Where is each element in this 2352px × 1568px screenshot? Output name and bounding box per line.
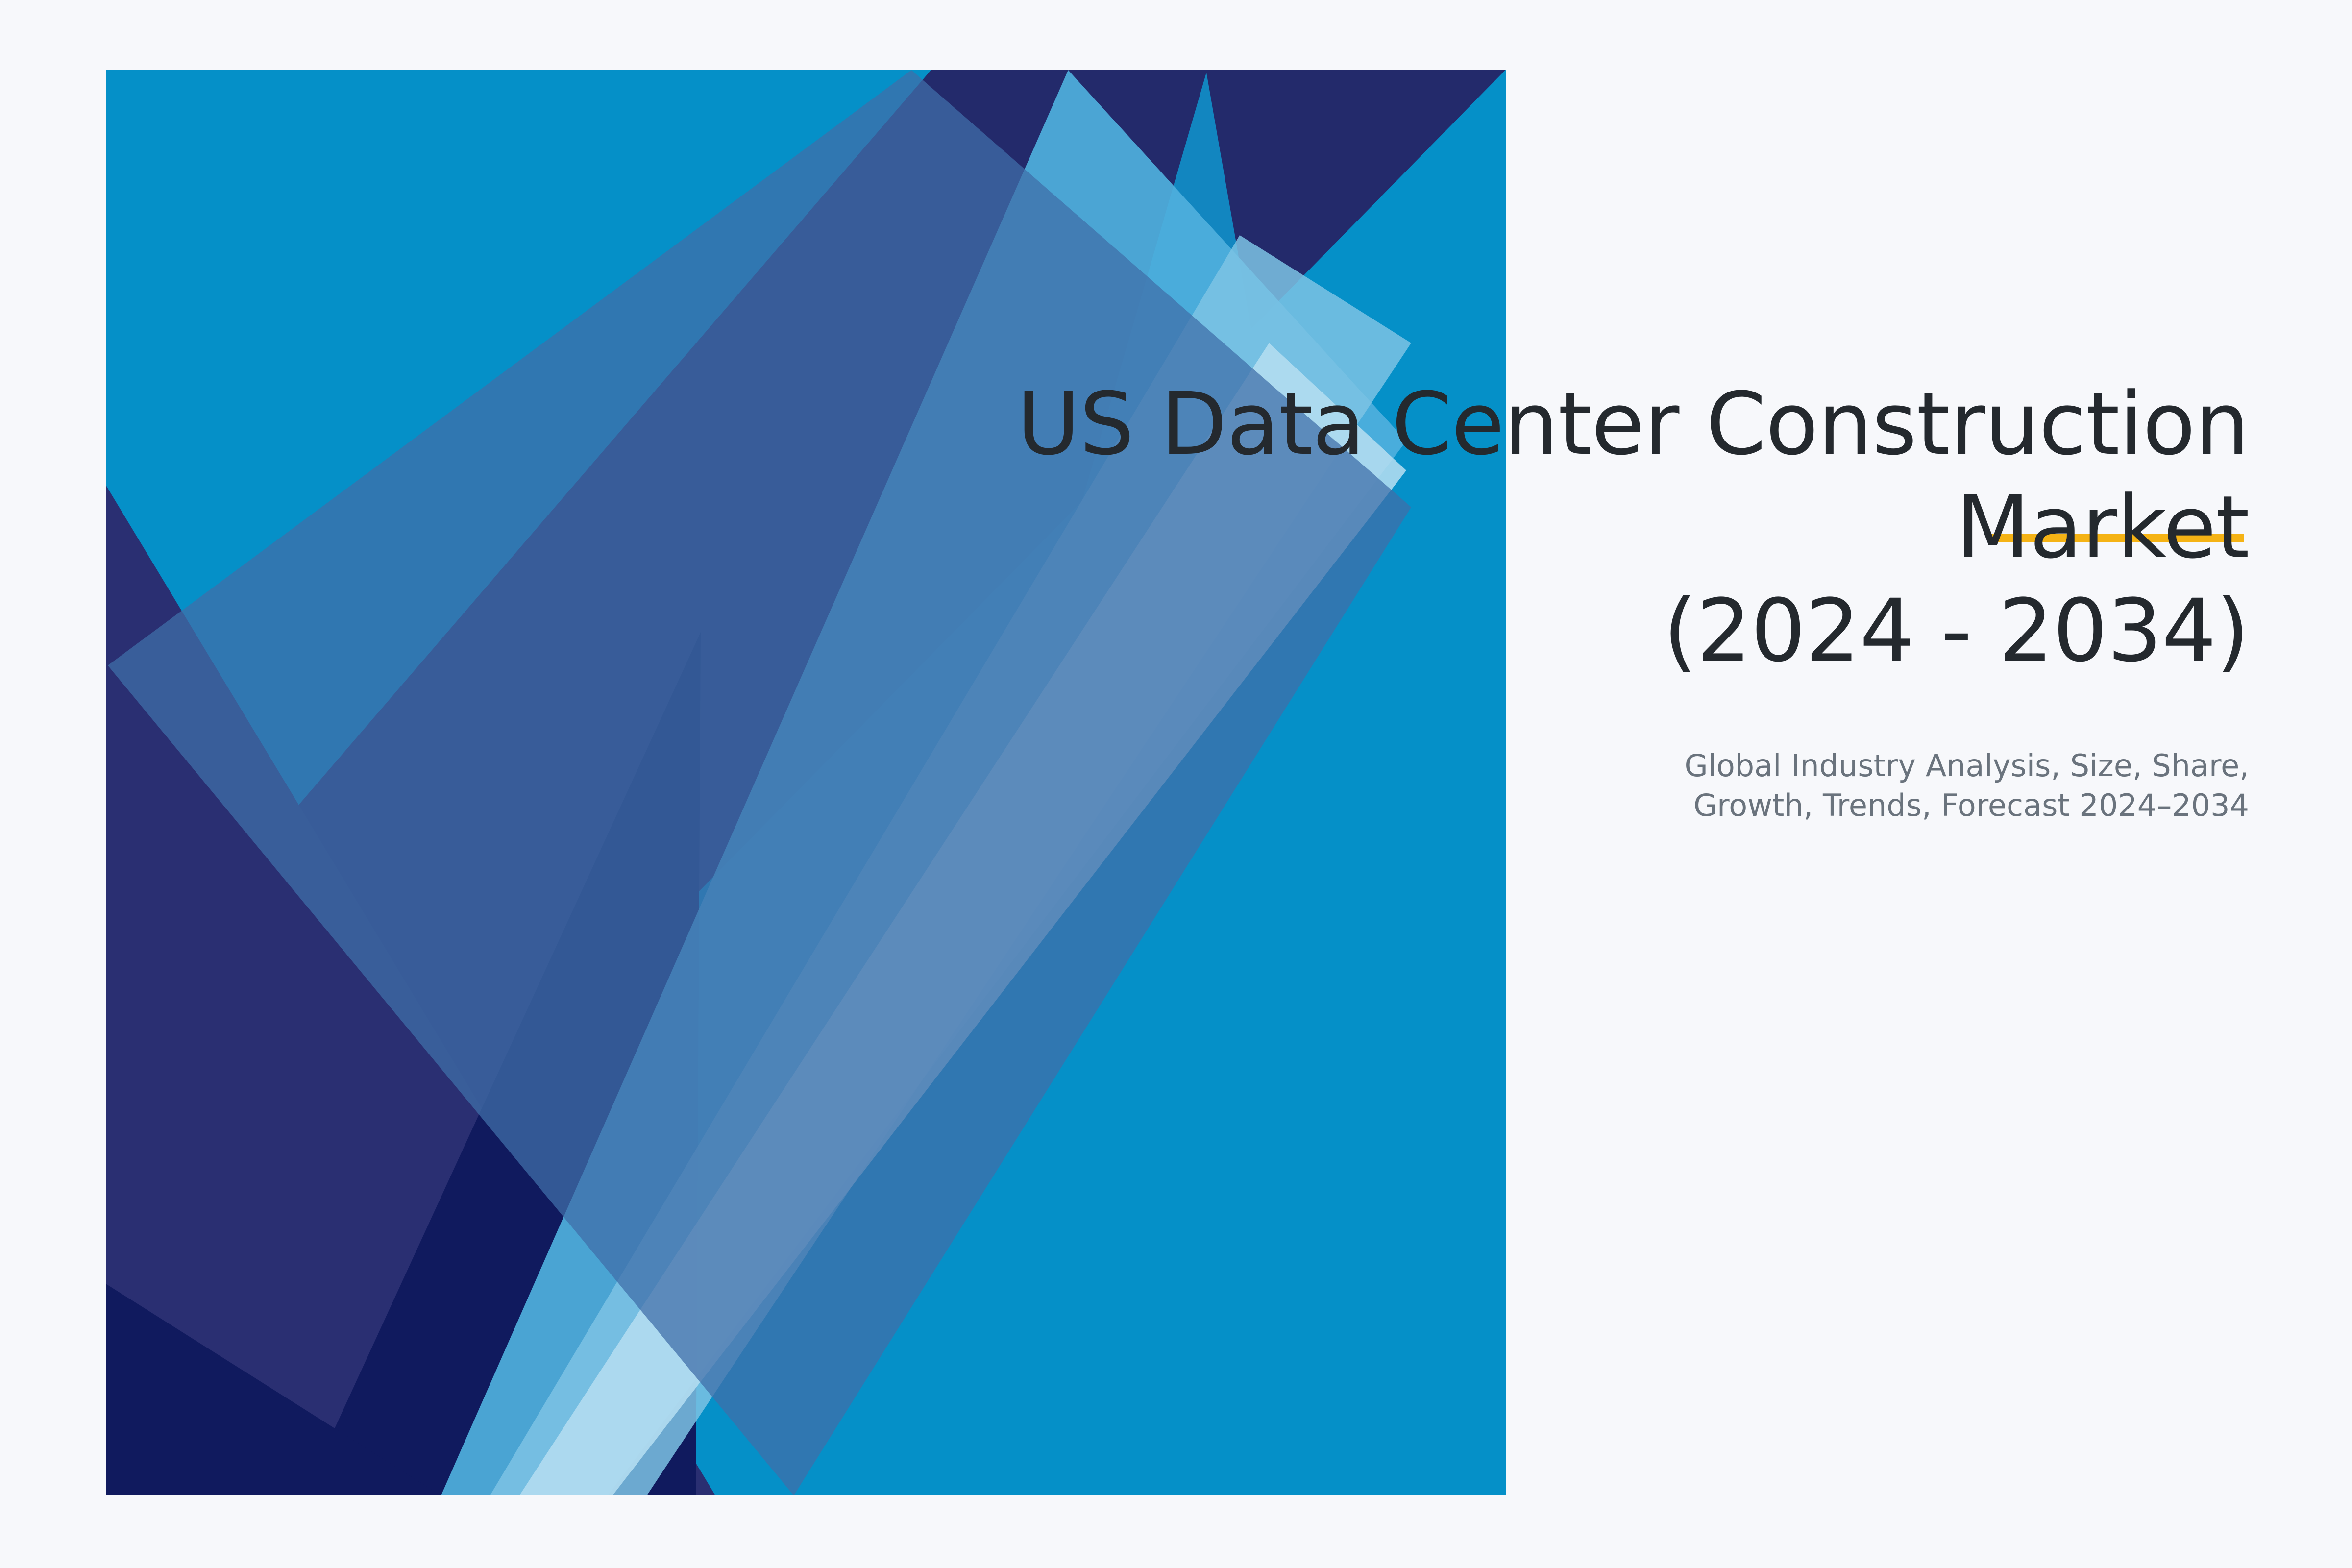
cover-text-block: US Data Center Construction Market (2024… — [833, 372, 2249, 826]
page-title: US Data Center Construction Market (2024… — [833, 372, 2249, 683]
report-cover-page: US Data Center Construction Market (2024… — [0, 0, 2352, 1568]
page-subtitle: Global Industry Analysis, Size, Share, G… — [833, 683, 2249, 826]
